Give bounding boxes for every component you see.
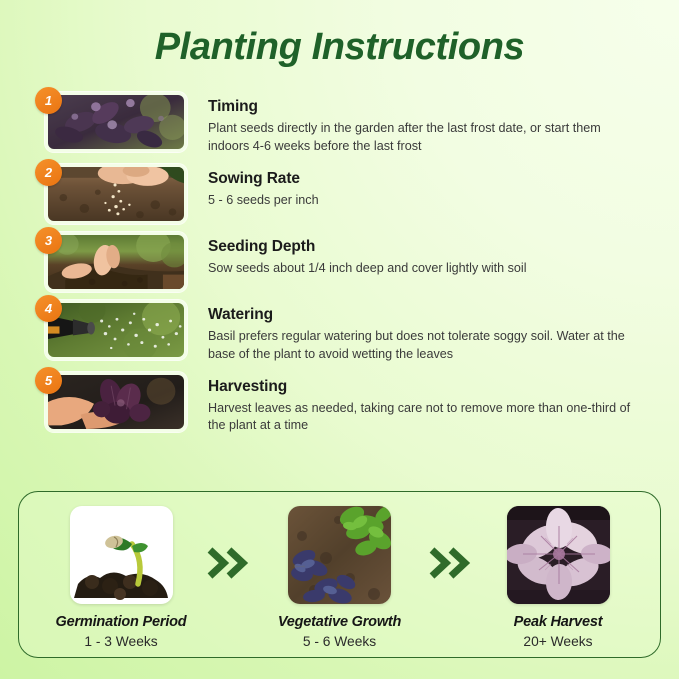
planting-step: 1 (0, 92, 679, 156)
mature-purple-basil-leaves-photo (507, 506, 610, 604)
step-thumbnail-wrap: 1 (35, 92, 187, 152)
hands-sowing-seeds-in-soil-photo (45, 164, 187, 224)
step-number-badge: 3 (35, 227, 62, 254)
purple-basil-plant-photo (45, 92, 187, 152)
step-description: Sow seeds about 1/4 inch deep and cover … (208, 260, 638, 278)
timeline-stage-peak-harvest: Peak Harvest 20+ Weeks (474, 506, 642, 649)
step-title: Harvesting (208, 378, 679, 396)
step-title: Sowing Rate (208, 170, 679, 188)
growth-timeline-row: Germination Period 1 - 3 Weeks (19, 492, 660, 657)
step-thumbnail-wrap: 4 (35, 300, 187, 360)
step-title: Seeding Depth (208, 238, 679, 256)
timeline-stage-name: Germination Period (37, 614, 205, 630)
double-chevron-right-icon (205, 506, 252, 580)
planting-step: 2 (0, 164, 679, 224)
hands-planting-in-soil-mound-photo (45, 232, 187, 292)
timeline-stage-duration: 20+ Weeks (474, 634, 642, 649)
planting-step: 5 (0, 372, 679, 436)
step-text-block: Sowing Rate 5 - 6 seeds per inch (187, 164, 679, 210)
timeline-stage-name: Vegetative Growth (252, 614, 427, 630)
hose-nozzle-spraying-water-photo (45, 300, 187, 360)
basil-seedlings-rows-in-soil-photo (288, 506, 391, 604)
planting-step: 4 (0, 300, 679, 364)
step-description: Plant seeds directly in the garden after… (208, 120, 638, 156)
step-thumbnail-wrap: 3 (35, 232, 187, 292)
infographic-canvas: Planting Instructions 1 (0, 0, 679, 679)
step-description: Harvest leaves as needed, taking care no… (208, 400, 638, 436)
timeline-stage-duration: 5 - 6 Weeks (252, 634, 427, 649)
timeline-stage-germination: Germination Period 1 - 3 Weeks (37, 506, 205, 649)
step-number-badge: 4 (35, 295, 62, 322)
timeline-stage-duration: 1 - 3 Weeks (37, 634, 205, 649)
step-text-block: Seeding Depth Sow seeds about 1/4 inch d… (187, 232, 679, 278)
step-thumbnail-wrap: 2 (35, 164, 187, 224)
step-thumbnail-wrap: 5 (35, 372, 187, 432)
step-title: Watering (208, 306, 679, 324)
step-description: Basil prefers regular watering but does … (208, 328, 638, 364)
step-title: Timing (208, 98, 679, 116)
step-text-block: Timing Plant seeds directly in the garde… (187, 92, 679, 156)
double-chevron-right-icon (427, 506, 474, 580)
step-description: 5 - 6 seeds per inch (208, 192, 638, 210)
step-number-badge: 5 (35, 367, 62, 394)
timeline-stage-vegetative: Vegetative Growth 5 - 6 Weeks (252, 506, 427, 649)
timeline-stage-name: Peak Harvest (474, 614, 642, 630)
growth-timeline-panel: Germination Period 1 - 3 Weeks (18, 491, 661, 658)
step-number-badge: 1 (35, 87, 62, 114)
purple-basil-leaves-in-hand-photo (45, 372, 187, 432)
page-title: Planting Instructions (0, 26, 679, 69)
step-number-badge: 2 (35, 159, 62, 186)
step-text-block: Watering Basil prefers regular watering … (187, 300, 679, 364)
step-text-block: Harvesting Harvest leaves as needed, tak… (187, 372, 679, 436)
sprouting-seed-photo (70, 506, 173, 604)
planting-steps-list: 1 (0, 92, 679, 443)
planting-step: 3 (0, 232, 679, 292)
